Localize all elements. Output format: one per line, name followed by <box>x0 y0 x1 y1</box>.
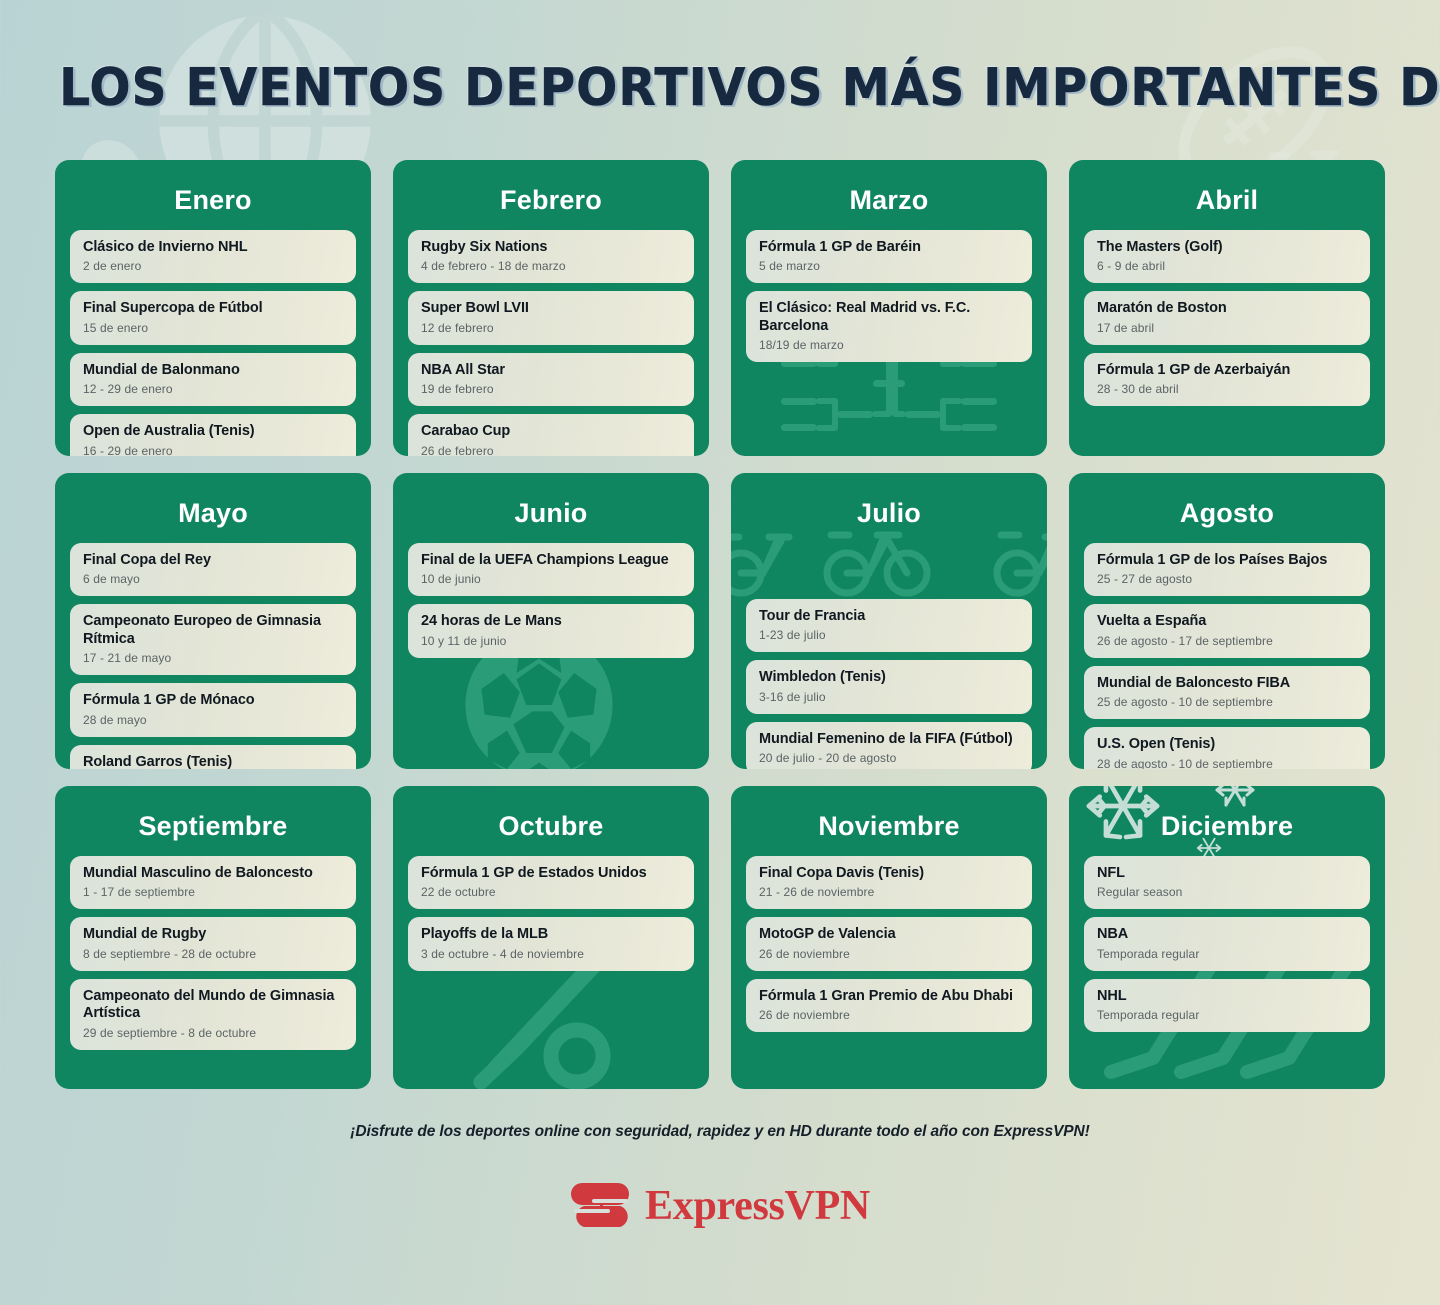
month-card-octubre: Octubre Fórmula 1 GP de Estados Unidos 2… <box>393 786 709 1089</box>
month-card-abril: Abril The Masters (Golf) 6 - 9 de abril … <box>1069 160 1385 456</box>
event-item[interactable]: 24 horas de Le Mans 10 y 11 de junio <box>408 604 694 657</box>
event-date: 16 - 29 de enero <box>83 444 343 456</box>
event-item[interactable]: Final Copa Davis (Tenis) 21 - 26 de novi… <box>746 856 1032 909</box>
event-title: Open de Australia (Tenis) <box>83 423 343 440</box>
month-title: Enero <box>70 185 356 216</box>
events-list: Final Copa del Rey 6 de mayo Campeonato … <box>70 543 356 769</box>
month-title: Marzo <box>746 185 1032 216</box>
event-item[interactable]: Fórmula 1 GP de los Países Bajos 25 - 27… <box>1084 543 1370 596</box>
event-item[interactable]: Open de Australia (Tenis) 16 - 29 de ene… <box>70 414 356 456</box>
event-item[interactable]: Fórmula 1 GP de Azerbaiyán 28 - 30 de ab… <box>1084 353 1370 406</box>
event-title: Campeonato del Mundo de Gimnasia Artísti… <box>83 988 343 1023</box>
event-item[interactable]: NBA Temporada regular <box>1084 917 1370 970</box>
event-item[interactable]: MotoGP de Valencia 26 de noviembre <box>746 917 1032 970</box>
event-item[interactable]: Mundial de Rugby 8 de septiembre - 28 de… <box>70 917 356 970</box>
event-title: MotoGP de Valencia <box>759 926 1019 943</box>
events-list: NFL Regular season NBA Temporada regular… <box>1084 856 1370 1032</box>
event-title: Mundial de Balonmano <box>83 362 343 379</box>
event-title: Super Bowl LVII <box>421 300 681 317</box>
event-item[interactable]: Roland Garros (Tenis) 28 de mayo - 11 de… <box>70 745 356 769</box>
expressvpn-e-logo-icon <box>570 1179 632 1232</box>
month-card-agosto: Agosto Fórmula 1 GP de los Países Bajos … <box>1069 473 1385 769</box>
months-grid-row-2: Mayo Final Copa del Rey 6 de mayo Campeo… <box>0 473 1440 769</box>
month-card-febrero: Febrero Rugby Six Nations 4 de febrero -… <box>393 160 709 456</box>
events-list: Fórmula 1 GP de Baréin 5 de marzo El Clá… <box>746 230 1032 362</box>
expressvpn-logo[interactable]: ExpressVPN <box>0 1179 1440 1232</box>
event-date: 21 - 26 de noviembre <box>759 885 1019 899</box>
event-item[interactable]: Final de la UEFA Champions League 10 de … <box>408 543 694 596</box>
event-title: Fórmula 1 GP de Azerbaiyán <box>1097 362 1357 379</box>
event-title: The Masters (Golf) <box>1097 239 1357 256</box>
event-title: NBA <box>1097 926 1357 943</box>
month-card-julio: Julio Tour de Francia 1-23 de julio Wimb… <box>731 473 1047 769</box>
event-date: 26 de febrero <box>421 444 681 456</box>
event-item[interactable]: The Masters (Golf) 6 - 9 de abril <box>1084 230 1370 283</box>
bicycle-icon <box>731 521 1047 604</box>
event-date: 10 y 11 de junio <box>421 634 681 648</box>
event-title: Mundial Masculino de Baloncesto <box>83 865 343 882</box>
event-item[interactable]: Maratón de Boston 17 de abril <box>1084 291 1370 344</box>
event-title: Maratón de Boston <box>1097 300 1357 317</box>
month-card-diciembre: Diciembre NFL Regular season NBA Tempora… <box>1069 786 1385 1089</box>
event-title: Final Copa Davis (Tenis) <box>759 865 1019 882</box>
event-item[interactable]: Mundial de Baloncesto FIBA 25 de agosto … <box>1084 666 1370 719</box>
event-item[interactable]: Mundial de Balonmano 12 - 29 de enero <box>70 353 356 406</box>
event-date: 26 de agosto - 17 de septiembre <box>1097 634 1357 648</box>
event-item[interactable]: Fórmula 1 GP de Mónaco 28 de mayo <box>70 683 356 736</box>
event-date: 12 - 29 de enero <box>83 382 343 396</box>
event-date: 12 de febrero <box>421 321 681 335</box>
month-title: Abril <box>1084 185 1370 216</box>
events-list: Final de la UEFA Champions League 10 de … <box>408 543 694 658</box>
event-item[interactable]: El Clásico: Real Madrid vs. F.C. Barcelo… <box>746 291 1032 362</box>
month-title: Mayo <box>70 498 356 529</box>
event-date: 28 - 30 de abril <box>1097 382 1357 396</box>
event-date: 1-23 de julio <box>759 628 1019 642</box>
month-card-noviembre: Noviembre Final Copa Davis (Tenis) 21 - … <box>731 786 1047 1089</box>
event-date: 6 de mayo <box>83 572 343 586</box>
event-date: 22 de octubre <box>421 885 681 899</box>
event-title: Final Copa del Rey <box>83 552 343 569</box>
event-item[interactable]: Campeonato del Mundo de Gimnasia Artísti… <box>70 979 356 1050</box>
event-title: NFL <box>1097 865 1357 882</box>
event-title: Playoffs de la MLB <box>421 926 681 943</box>
event-title: Tour de Francia <box>759 608 1019 625</box>
event-date: Temporada regular <box>1097 1008 1357 1022</box>
month-title: Noviembre <box>746 811 1032 842</box>
event-title: Final de la UEFA Champions League <box>421 552 681 569</box>
event-date: 4 de febrero - 18 de marzo <box>421 259 681 273</box>
expressvpn-wordmark: ExpressVPN <box>645 1182 870 1230</box>
event-title: Campeonato Europeo de Gimnasia Rítmica <box>83 613 343 648</box>
event-date: 17 - 21 de mayo <box>83 651 343 665</box>
event-title: Wimbledon (Tenis) <box>759 669 1019 686</box>
month-card-septiembre: Septiembre Mundial Masculino de Balonces… <box>55 786 371 1089</box>
event-item[interactable]: Final Supercopa de Fútbol 15 de enero <box>70 291 356 344</box>
event-date: 17 de abril <box>1097 321 1357 335</box>
month-title: Febrero <box>408 185 694 216</box>
event-item[interactable]: Vuelta a España 26 de agosto - 17 de sep… <box>1084 604 1370 657</box>
events-list: Rugby Six Nations 4 de febrero - 18 de m… <box>408 230 694 456</box>
page-title: LOS EVENTOS DEPORTIVOS MÁS IMPORTANTES D… <box>59 58 1440 118</box>
event-date: 28 de mayo <box>83 713 343 727</box>
event-item[interactable]: Super Bowl LVII 12 de febrero <box>408 291 694 344</box>
event-item[interactable]: Clásico de Invierno NHL 2 de enero <box>70 230 356 283</box>
event-item[interactable]: NBA All Star 19 de febrero <box>408 353 694 406</box>
event-title: El Clásico: Real Madrid vs. F.C. Barcelo… <box>759 300 1019 335</box>
event-date: 29 de septiembre - 8 de octubre <box>83 1026 343 1040</box>
events-list: Mundial Masculino de Baloncesto 1 - 17 d… <box>70 856 356 1050</box>
event-date: 20 de julio - 20 de agosto <box>759 751 1019 765</box>
event-date: 2 de enero <box>83 259 343 273</box>
event-item[interactable]: NHL Temporada regular <box>1084 979 1370 1032</box>
page-title-container: LOS EVENTOS DEPORTIVOS MÁS IMPORTANTES D… <box>0 0 1440 118</box>
event-title: Clásico de Invierno NHL <box>83 239 343 256</box>
event-title: Rugby Six Nations <box>421 239 681 256</box>
event-title: Carabao Cup <box>421 423 681 440</box>
events-list: Final Copa Davis (Tenis) 21 - 26 de novi… <box>746 856 1032 1032</box>
event-date: 15 de enero <box>83 321 343 335</box>
event-title: Fórmula 1 GP de Baréin <box>759 239 1019 256</box>
events-list: Fórmula 1 GP de Estados Unidos 22 de oct… <box>408 856 694 971</box>
event-item[interactable]: Playoffs de la MLB 3 de octubre - 4 de n… <box>408 917 694 970</box>
event-date: 6 - 9 de abril <box>1097 259 1357 273</box>
event-title: Fórmula 1 GP de Mónaco <box>83 692 343 709</box>
event-date: Temporada regular <box>1097 947 1357 961</box>
month-title: Julio <box>746 498 1032 529</box>
event-date: 18/19 de marzo <box>759 338 1019 352</box>
event-date: 25 de agosto - 10 de septiembre <box>1097 695 1357 709</box>
event-item[interactable]: Campeonato Europeo de Gimnasia Rítmica 1… <box>70 604 356 675</box>
events-list: The Masters (Golf) 6 - 9 de abril Marató… <box>1084 230 1370 406</box>
event-title: Mundial Femenino de la FIFA (Fútbol) <box>759 731 1019 748</box>
event-item[interactable]: Fórmula 1 GP de Baréin 5 de marzo <box>746 230 1032 283</box>
months-grid-row-1: Enero Clásico de Invierno NHL 2 de enero… <box>0 160 1440 456</box>
event-title: Mundial de Baloncesto FIBA <box>1097 675 1357 692</box>
event-date: 3 de octubre - 4 de noviembre <box>421 947 681 961</box>
events-list: Fórmula 1 GP de los Países Bajos 25 - 27… <box>1084 543 1370 769</box>
event-title: Roland Garros (Tenis) <box>83 754 343 769</box>
event-date: Regular season <box>1097 885 1357 899</box>
event-date: 19 de febrero <box>421 382 681 396</box>
event-date: 10 de junio <box>421 572 681 586</box>
month-card-mayo: Mayo Final Copa del Rey 6 de mayo Campeo… <box>55 473 371 769</box>
month-card-junio: Junio Final de la UEFA Champions League … <box>393 473 709 769</box>
event-title: Final Supercopa de Fútbol <box>83 300 343 317</box>
event-item[interactable]: U.S. Open (Tenis) 28 de agosto - 10 de s… <box>1084 727 1370 769</box>
event-item[interactable]: Fórmula 1 Gran Premio de Abu Dhabi 26 de… <box>746 979 1032 1032</box>
month-title: Agosto <box>1084 498 1370 529</box>
month-card-marzo: Marzo Fórmula 1 GP de Baréin 5 de marzo … <box>731 160 1047 456</box>
event-item[interactable]: Fórmula 1 GP de Estados Unidos 22 de oct… <box>408 856 694 909</box>
event-date: 8 de septiembre - 28 de octubre <box>83 947 343 961</box>
footer-tagline: ¡Disfrute de los deportes online con seg… <box>0 1123 1440 1141</box>
event-date: 1 - 17 de septiembre <box>83 885 343 899</box>
month-title: Junio <box>408 498 694 529</box>
month-card-enero: Enero Clásico de Invierno NHL 2 de enero… <box>55 160 371 456</box>
event-date: 5 de marzo <box>759 259 1019 273</box>
event-date: 28 de agosto - 10 de septiembre <box>1097 757 1357 769</box>
months-grid-row-3: Septiembre Mundial Masculino de Balonces… <box>0 786 1440 1089</box>
event-title: Mundial de Rugby <box>83 926 343 943</box>
month-title: Diciembre <box>1084 811 1370 842</box>
event-title: NBA All Star <box>421 362 681 379</box>
event-date: 26 de noviembre <box>759 947 1019 961</box>
month-title: Septiembre <box>70 811 356 842</box>
event-title: Vuelta a España <box>1097 613 1357 630</box>
event-item[interactable]: Mundial Masculino de Baloncesto 1 - 17 d… <box>70 856 356 909</box>
event-date: 25 - 27 de agosto <box>1097 572 1357 586</box>
event-item[interactable]: Tour de Francia 1-23 de julio <box>746 599 1032 652</box>
event-item[interactable]: Rugby Six Nations 4 de febrero - 18 de m… <box>408 230 694 283</box>
month-title: Octubre <box>408 811 694 842</box>
event-item[interactable]: Mundial Femenino de la FIFA (Fútbol) 20 … <box>746 722 1032 769</box>
event-title: NHL <box>1097 988 1357 1005</box>
event-item[interactable]: NFL Regular season <box>1084 856 1370 909</box>
event-item[interactable]: Carabao Cup 26 de febrero <box>408 414 694 456</box>
event-title: Fórmula 1 Gran Premio de Abu Dhabi <box>759 988 1019 1005</box>
event-title: Fórmula 1 GP de los Países Bajos <box>1097 552 1357 569</box>
event-title: U.S. Open (Tenis) <box>1097 736 1357 753</box>
event-item[interactable]: Wimbledon (Tenis) 3-16 de julio <box>746 660 1032 713</box>
events-list: Tour de Francia 1-23 de julio Wimbledon … <box>746 599 1032 769</box>
event-item[interactable]: Final Copa del Rey 6 de mayo <box>70 543 356 596</box>
event-title: 24 horas de Le Mans <box>421 613 681 630</box>
event-date: 3-16 de julio <box>759 690 1019 704</box>
event-date: 26 de noviembre <box>759 1008 1019 1022</box>
events-list: Clásico de Invierno NHL 2 de enero Final… <box>70 230 356 456</box>
event-title: Fórmula 1 GP de Estados Unidos <box>421 865 681 882</box>
